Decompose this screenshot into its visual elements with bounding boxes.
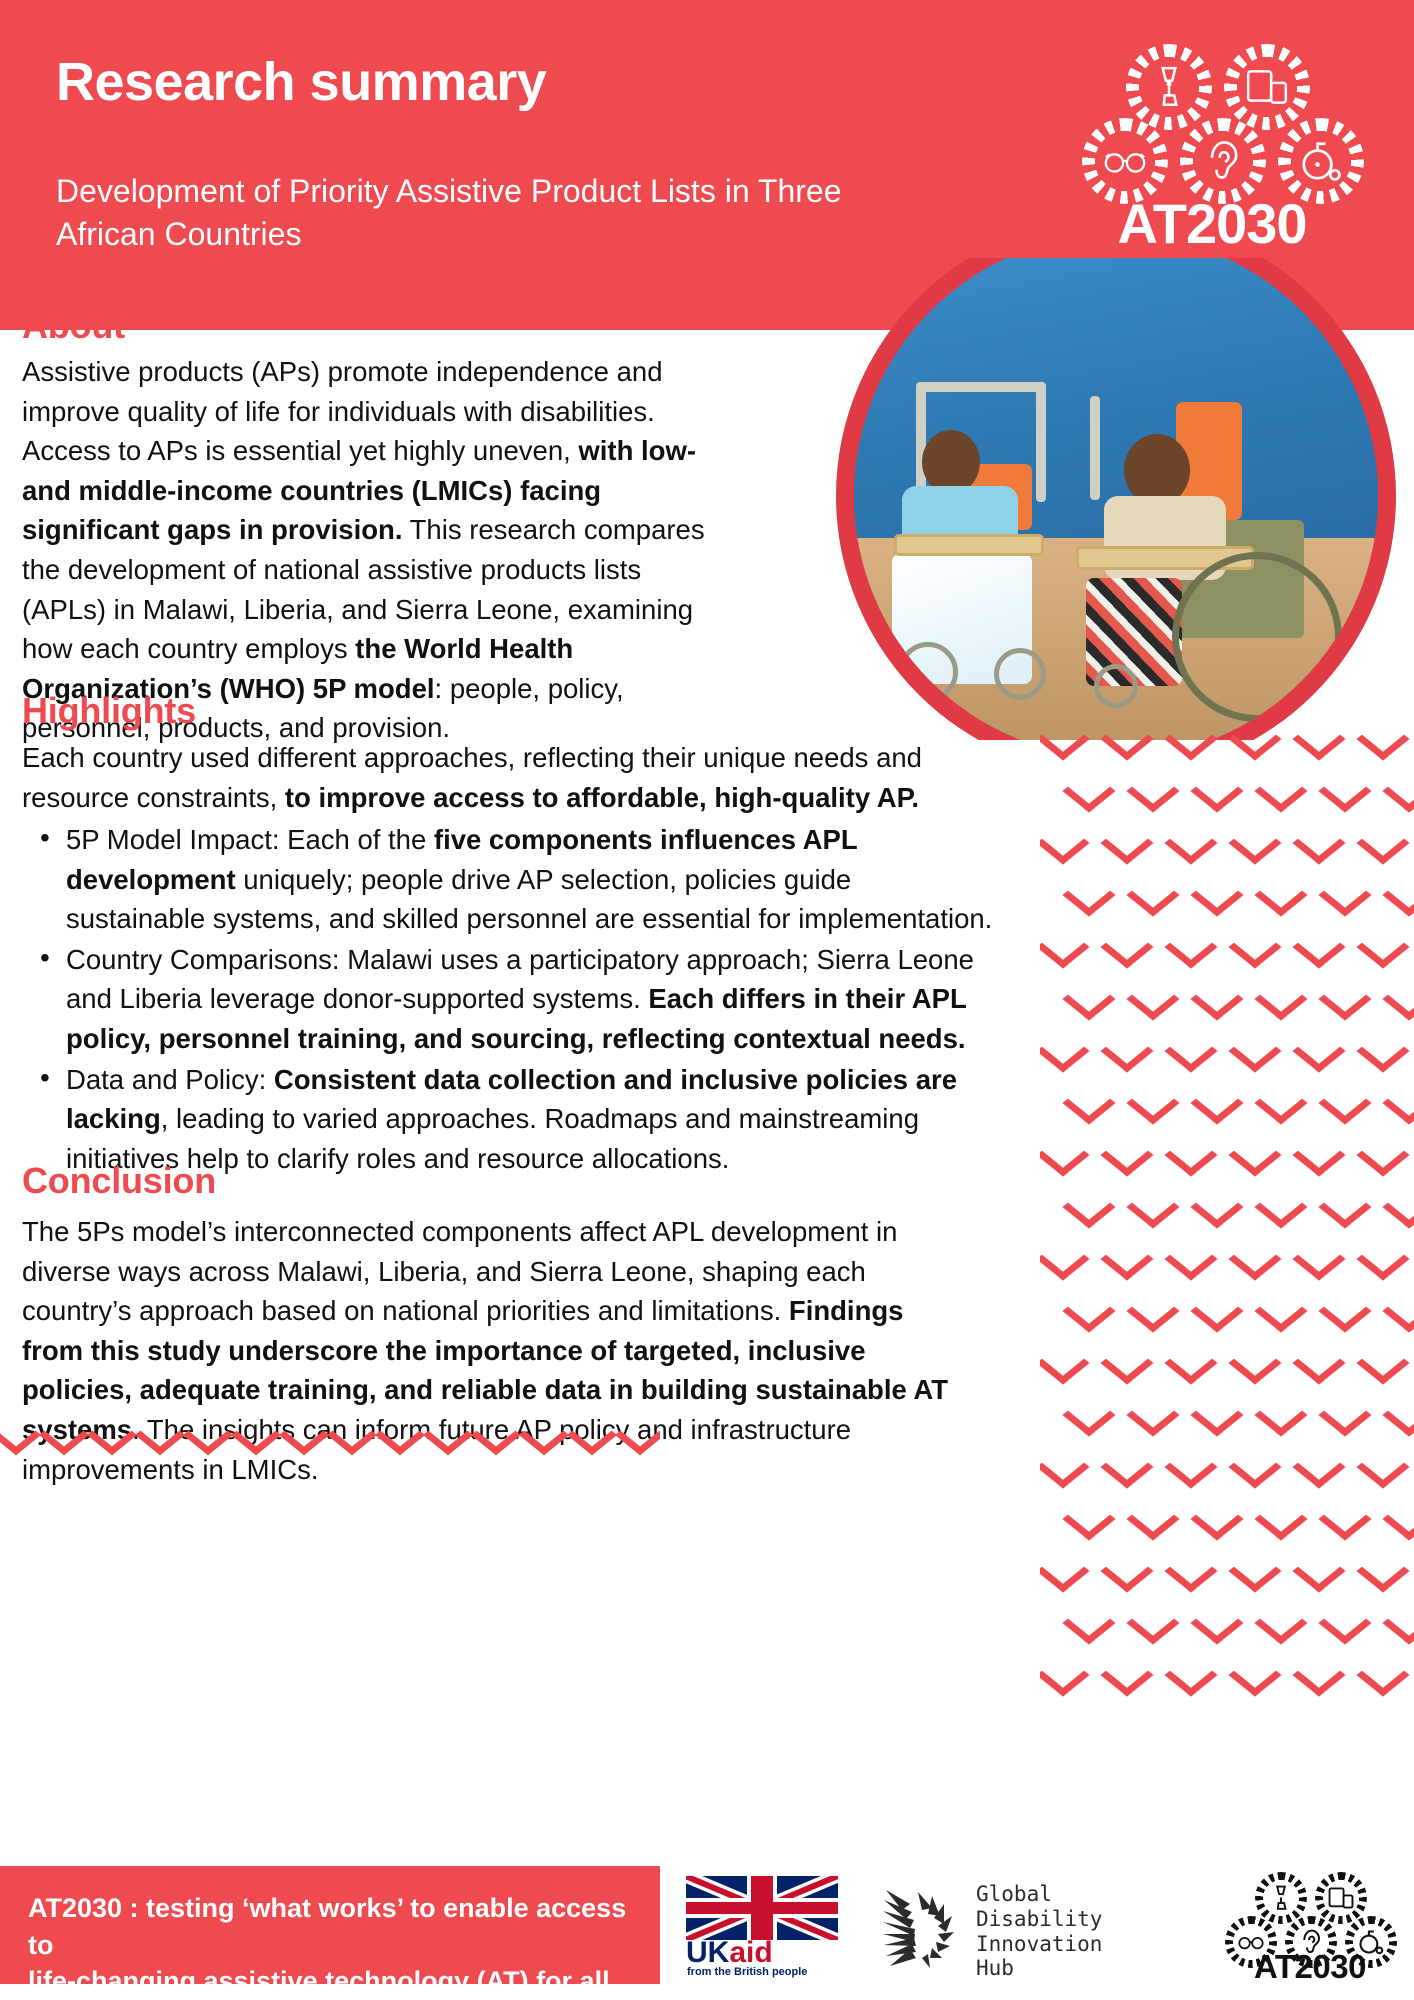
triangle-icon: [1318, 1393, 1371, 1436]
highlights-heading: Highlights: [22, 690, 196, 732]
triangle-icon: [1190, 1289, 1243, 1332]
triangle-icon: [1254, 1601, 1307, 1644]
triangle-icon: [87, 1415, 137, 1455]
triangle-icon: [375, 1415, 425, 1455]
triangle-icon: [1318, 977, 1371, 1020]
triangle-icon: [1318, 1289, 1371, 1332]
triangle-icon: [1062, 1185, 1115, 1228]
triangle-row: [1040, 1294, 1414, 1328]
triangle-icon: [1126, 1393, 1179, 1436]
at2030-logo: AT2030: [1082, 40, 1342, 250]
about-paragraph: Assistive products (APs) promote indepen…: [22, 352, 732, 748]
triangle-icon: [1164, 1341, 1217, 1384]
triangle-icon: [1100, 1445, 1153, 1488]
triangle-icon: [1062, 873, 1115, 916]
triangle-icon: [327, 1415, 377, 1455]
triangle-row: [1040, 1554, 1414, 1588]
triangle-icon: [1100, 821, 1153, 864]
triangle-icon: [1040, 1029, 1090, 1072]
gdi-line-2: Disability: [976, 1907, 1102, 1932]
triangle-row: [1040, 1606, 1414, 1640]
triangle-icon: [1318, 769, 1371, 812]
triangle-icon: [1292, 1237, 1345, 1280]
triangle-icon: [1292, 821, 1345, 864]
triangle-icon: [1100, 722, 1153, 761]
triangle-icon: [1126, 1497, 1179, 1540]
triangle-icon: [1190, 873, 1243, 916]
triangle-icon: [1356, 1445, 1409, 1488]
triangle-icon: [1382, 1601, 1414, 1644]
union-jack-icon: [686, 1876, 838, 1940]
triangle-icon: [1254, 769, 1307, 812]
triangle-icon: [1382, 1393, 1414, 1436]
triangle-icon: [1190, 977, 1243, 1020]
at2030-wordmark: AT2030: [1082, 191, 1342, 256]
triangle-icon: [1164, 1029, 1217, 1072]
triangle-icon: [1164, 821, 1217, 864]
triangle-icon: [1228, 1237, 1281, 1280]
triangle-icon: [1040, 1341, 1090, 1384]
triangle-row: [1040, 722, 1414, 756]
triangle-row: [1040, 1658, 1414, 1692]
children-wheelchairs-photo: [854, 258, 1378, 740]
triangle-icon: [183, 1415, 233, 1455]
triangle-icon: [471, 1415, 521, 1455]
triangle-icon: [1190, 769, 1243, 812]
triangle-icon: [1254, 1289, 1307, 1332]
text-run: Assistive products (APs) promote indepen…: [22, 356, 663, 466]
triangle-icon: [1292, 1341, 1345, 1384]
triangle-icon: [1318, 1185, 1371, 1228]
ukaid-aid-text: aid: [729, 1936, 772, 1969]
triangle-icon: [1190, 1185, 1243, 1228]
ukaid-logo: UKaid from the British people: [682, 1876, 842, 1980]
triangle-icon: [1382, 1081, 1414, 1124]
highlights-bullet-list: 5P Model Impact: Each of the five compon…: [22, 820, 997, 1179]
triangle-icon: [1254, 1497, 1307, 1540]
triangle-icon: [231, 1415, 281, 1455]
at2030-footer-wordmark: AT2030: [1225, 1948, 1395, 1986]
triangle-icon: [1126, 769, 1179, 812]
footer-tagline: AT2030 : testing ‘what works’ to enable …: [28, 1890, 640, 2000]
triangle-row: [1040, 1138, 1414, 1172]
triangle-icon: [1292, 1549, 1345, 1592]
gdi-fan-icon: [880, 1886, 964, 1974]
triangle-icon: [1382, 1497, 1414, 1540]
triangle-icon: [1100, 925, 1153, 968]
triangle-icon: [39, 1415, 89, 1455]
triangle-icon: [1190, 1081, 1243, 1124]
gdi-line-1: Global: [976, 1882, 1102, 1907]
triangle-icon: [0, 1415, 41, 1455]
triangle-icon: [1228, 1445, 1281, 1488]
triangle-row: [1040, 1034, 1414, 1068]
triangle-icon: [1100, 1029, 1153, 1072]
triangle-row: [1040, 878, 1414, 912]
triangle-row: [1040, 1242, 1414, 1276]
triangle-icon: [1100, 1237, 1153, 1280]
text-run: Data and Policy:: [66, 1064, 274, 1095]
triangle-icon: [1356, 1133, 1409, 1176]
triangle-icon: [423, 1415, 473, 1455]
triangle-icon: [1040, 1445, 1090, 1488]
triangle-icon: [1100, 1653, 1153, 1696]
gdi-line-3: Innovation: [976, 1932, 1102, 1957]
triangle-icon: [1292, 925, 1345, 968]
triangle-icon: [1228, 1133, 1281, 1176]
triangle-icon: [1062, 1601, 1115, 1644]
triangle-icon: [1382, 1289, 1414, 1332]
triangle-icon: [1318, 1081, 1371, 1124]
conclusion-heading: Conclusion: [22, 1160, 216, 1202]
triangle-icon: [519, 1415, 569, 1455]
triangle-icon: [1356, 1653, 1409, 1696]
triangle-icon: [1100, 1549, 1153, 1592]
triangle-icon: [1292, 1653, 1345, 1696]
triangle-icon: [1062, 1289, 1115, 1332]
triangle-icon: [1062, 769, 1115, 812]
triangle-icon: [1062, 1393, 1115, 1436]
triangle-icon: [1126, 977, 1179, 1020]
triangle-row: [1040, 1190, 1414, 1224]
triangle-icon: [1318, 1601, 1371, 1644]
triangle-row: [1040, 1450, 1414, 1484]
triangle-icon: [1318, 1497, 1371, 1540]
triangle-icon: [1356, 925, 1409, 968]
triangle-icon: [1356, 1549, 1409, 1592]
triangle-icon: [567, 1415, 617, 1455]
triangle-icon: [1126, 1601, 1179, 1644]
triangle-icon: [1382, 873, 1414, 916]
triangle-pattern-right: [1040, 722, 1414, 1822]
triangle-icon: [1228, 1341, 1281, 1384]
gdi-hub-label: Global Disability Innovation Hub: [976, 1882, 1102, 1981]
triangle-icon: [1292, 1029, 1345, 1072]
triangle-icon: [1228, 821, 1281, 864]
triangle-icon: [1228, 722, 1281, 761]
triangle-row: [1040, 1346, 1414, 1380]
triangle-icon: [1164, 1445, 1217, 1488]
footer-tagline-line1: AT2030 : testing ‘what works’ to enable …: [28, 1893, 626, 1960]
highlights-bullet-item: 5P Model Impact: Each of the five compon…: [22, 820, 997, 939]
triangle-icon: [1062, 1497, 1115, 1540]
triangle-row: [1040, 1502, 1414, 1536]
triangle-icon: [1040, 1237, 1090, 1280]
triangle-icon: [1062, 1081, 1115, 1124]
triangle-icon: [1190, 1601, 1243, 1644]
triangle-icon: [1040, 821, 1090, 864]
triangle-icon: [1228, 1029, 1281, 1072]
triangle-icon: [1382, 769, 1414, 812]
triangle-icon: [1228, 1653, 1281, 1696]
hero-photo-container: [836, 258, 1396, 740]
triangle-icon: [1292, 722, 1345, 761]
about-heading: About: [22, 305, 125, 347]
triangle-icon: [1254, 977, 1307, 1020]
gdi-line-4: Hub: [976, 1956, 1102, 1981]
triangle-icon: [279, 1415, 329, 1455]
triangle-icon: [1040, 925, 1090, 968]
triangle-icon: [1100, 1341, 1153, 1384]
triangle-icon: [1164, 1237, 1217, 1280]
triangle-icon: [1228, 925, 1281, 968]
triangle-icon: [1040, 1133, 1090, 1176]
triangle-icon: [1190, 1393, 1243, 1436]
triangle-icon: [1254, 1185, 1307, 1228]
triangle-icon: [1292, 1133, 1345, 1176]
triangle-icon: [1292, 1445, 1345, 1488]
triangle-icon: [1356, 1029, 1409, 1072]
triangle-row: [1040, 774, 1414, 808]
triangle-icon: [1356, 1237, 1409, 1280]
triangle-icon: [615, 1415, 660, 1455]
triangle-icon: [1126, 1185, 1179, 1228]
triangle-row: [1040, 1398, 1414, 1432]
triangle-icon: [1040, 722, 1090, 761]
bold-run: to improve access to affordable, high-qu…: [285, 782, 919, 813]
triangle-icon: [1164, 1133, 1217, 1176]
triangle-icon: [1356, 722, 1409, 761]
triangle-icon: [1126, 873, 1179, 916]
footer-tagline-line2: life-changing assistive technology (AT) …: [28, 1966, 610, 1996]
text-run: The 5Ps model’s interconnected component…: [22, 1216, 897, 1326]
ukaid-uk-text: UK: [686, 1936, 729, 1969]
triangle-icon: [1040, 1653, 1090, 1696]
ukaid-tagline: from the British people: [687, 1966, 807, 1978]
triangle-icon: [1126, 1289, 1179, 1332]
triangle-icon: [1100, 1133, 1153, 1176]
triangle-pattern-bottom: [0, 1415, 660, 1461]
triangle-icon: [1254, 873, 1307, 916]
triangle-icon: [1164, 925, 1217, 968]
footer-tagline-bar: AT2030 : testing ‘what works’ to enable …: [0, 1866, 660, 1984]
ukaid-wordmark: UKaid: [686, 1938, 838, 1968]
triangle-icon: [1062, 977, 1115, 1020]
triangle-icon: [1040, 1549, 1090, 1592]
triangle-row: [1040, 1086, 1414, 1120]
triangle-icon: [1164, 1549, 1217, 1592]
triangle-row: [1040, 930, 1414, 964]
research-summary-page: Research summary Development of Priority…: [0, 0, 1414, 2000]
triangle-icon: [1254, 1393, 1307, 1436]
triangle-icon: [1228, 1549, 1281, 1592]
triangle-icon: [1318, 873, 1371, 916]
at2030-footer-logo: AT2030: [1225, 1872, 1395, 1984]
triangle-icon: [1164, 1653, 1217, 1696]
triangle-row: [1040, 826, 1414, 860]
triangle-icon: [1382, 1185, 1414, 1228]
triangle-row: [1040, 982, 1414, 1016]
triangle-icon: [1356, 821, 1409, 864]
triangle-icon: [1126, 1081, 1179, 1124]
highlights-bullet-item: Country Comparisons: Malawi uses a parti…: [22, 940, 997, 1059]
triangle-icon: [1356, 1341, 1409, 1384]
page-subtitle: Development of Priority Assistive Produc…: [56, 170, 846, 255]
highlights-intro: Each country used different approaches, …: [22, 738, 982, 817]
triangle-icon: [1382, 977, 1414, 1020]
triangle-icon: [1190, 1497, 1243, 1540]
page-title: Research summary: [56, 54, 546, 111]
triangle-icon: [1164, 722, 1217, 761]
triangle-icon: [1254, 1081, 1307, 1124]
highlights-ul: 5P Model Impact: Each of the five compon…: [22, 820, 997, 1178]
triangle-icon: [135, 1415, 185, 1455]
gdi-hub-logo: Global Disability Innovation Hub: [880, 1878, 1180, 1982]
text-run: 5P Model Impact: Each of the: [66, 824, 434, 855]
